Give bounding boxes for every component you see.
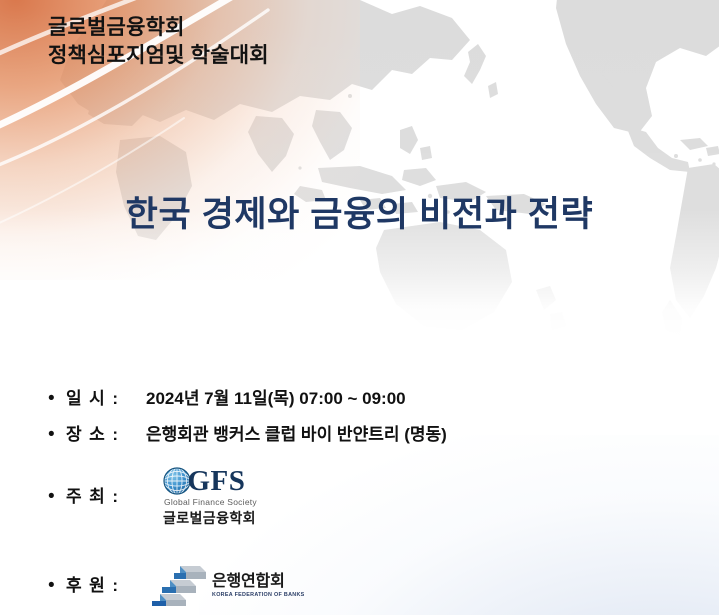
detail-row-date: • 일 시 : 2024년 7월 11일(목) 07:00 ~ 09:00	[44, 386, 704, 412]
header-line-2: 정책심포지엄및 학술대회	[48, 42, 608, 70]
bullet-icon: •	[44, 386, 66, 412]
sponsor-label: 후 원 :	[66, 573, 144, 599]
detail-row-venue: • 장 소 : 은행회관 뱅커스 클럽 바이 반얀트리 (명동)	[44, 422, 704, 448]
host-label: 주 최 :	[66, 484, 144, 510]
header-line-1: 글로벌금융학회	[48, 14, 608, 42]
kfb-logo: 은행연합회 KOREA FEDERATION OF BANKS	[144, 564, 305, 608]
bullet-icon: •	[44, 422, 66, 448]
kfb-text-block: 은행연합회 KOREA FEDERATION OF BANKS	[212, 574, 305, 598]
kfb-korean-name: 은행연합회	[212, 574, 305, 591]
gfs-tagline: Global Finance Society	[164, 497, 257, 507]
event-poster: 글로벌금융학회 정책심포지엄및 학술대회 한국 경제와 금융의 비전과 전략 •…	[0, 0, 719, 615]
stacked-blocks-icon	[150, 564, 208, 608]
page-title: 한국 경제와 금융의 비전과 전략	[0, 186, 719, 237]
bullet-icon: •	[44, 573, 66, 599]
event-header: 글로벌금융학회 정책심포지엄및 학술대회	[48, 14, 608, 70]
venue-value: 은행회관 뱅커스 클럽 바이 반얀트리 (명동)	[144, 422, 447, 448]
date-label: 일 시 :	[66, 386, 144, 412]
gfs-letters: GFS	[188, 467, 246, 496]
venue-label: 장 소 :	[66, 422, 144, 448]
bullet-icon: •	[44, 484, 66, 510]
detail-row-sponsor: • 후 원 :	[44, 564, 704, 608]
gfs-korean-name: 글로벌금융학회	[163, 508, 256, 528]
gfs-logo-top: GFS	[162, 466, 246, 496]
detail-row-host: • 주 최 :	[44, 466, 704, 528]
event-details-list: • 일 시 : 2024년 7월 11일(목) 07:00 ~ 09:00 • …	[44, 386, 704, 615]
gfs-logo: GFS Global Finance Society 글로벌금융학회	[144, 466, 257, 528]
date-value: 2024년 7월 11일(목) 07:00 ~ 09:00	[144, 386, 406, 412]
kfb-english-name: KOREA FEDERATION OF BANKS	[212, 592, 305, 598]
